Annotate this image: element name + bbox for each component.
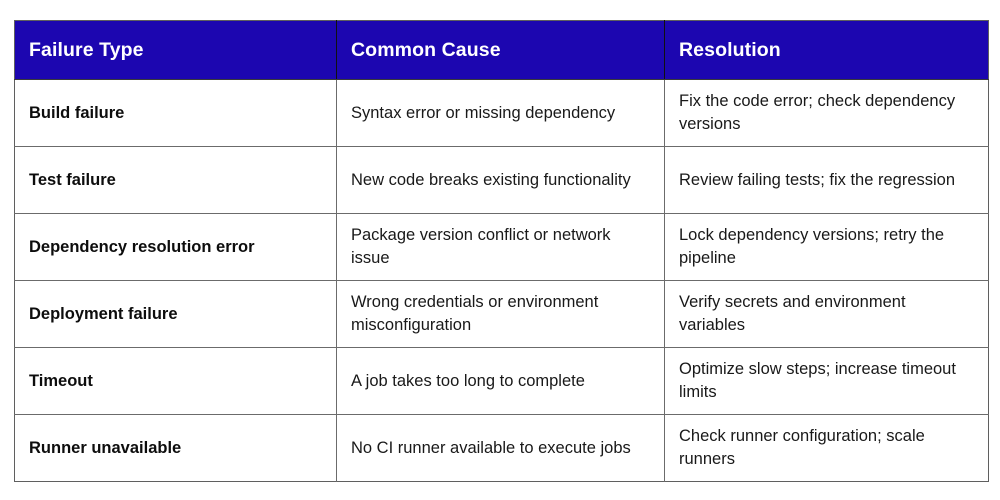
cell-resolution: Verify secrets and environment variables (665, 281, 989, 348)
cell-common-cause: Wrong credentials or environment misconf… (337, 281, 665, 348)
cell-failure-type: Build failure (15, 80, 337, 147)
table-row: Build failure Syntax error or missing de… (15, 80, 989, 147)
table-header: Failure Type Common Cause Resolution (15, 21, 989, 80)
table-row: Deployment failure Wrong credentials or … (15, 281, 989, 348)
table-row: Dependency resolution error Package vers… (15, 214, 989, 281)
column-header-failure-type: Failure Type (15, 21, 337, 80)
table-row: Test failure New code breaks existing fu… (15, 147, 989, 214)
failure-reference-table-container: Failure Type Common Cause Resolution Bui… (14, 20, 988, 490)
table-row: Runner unavailable No CI runner availabl… (15, 415, 989, 482)
cell-failure-type: Dependency resolution error (15, 214, 337, 281)
cell-resolution: Optimize slow steps; increase timeout li… (665, 348, 989, 415)
cell-failure-type: Test failure (15, 147, 337, 214)
table-body: Build failure Syntax error or missing de… (15, 80, 989, 482)
cell-common-cause: Syntax error or missing dependency (337, 80, 665, 147)
table-row: Timeout A job takes too long to complete… (15, 348, 989, 415)
table-header-row: Failure Type Common Cause Resolution (15, 21, 989, 80)
cell-common-cause: Package version conflict or network issu… (337, 214, 665, 281)
cell-resolution: Lock dependency versions; retry the pipe… (665, 214, 989, 281)
cell-resolution: Fix the code error; check dependency ver… (665, 80, 989, 147)
cell-common-cause: No CI runner available to execute jobs (337, 415, 665, 482)
failure-reference-table: Failure Type Common Cause Resolution Bui… (14, 20, 989, 482)
cell-common-cause: New code breaks existing functionality (337, 147, 665, 214)
cell-failure-type: Runner unavailable (15, 415, 337, 482)
column-header-resolution: Resolution (665, 21, 989, 80)
cell-common-cause: A job takes too long to complete (337, 348, 665, 415)
cell-failure-type: Timeout (15, 348, 337, 415)
cell-resolution: Check runner configuration; scale runner… (665, 415, 989, 482)
cell-failure-type: Deployment failure (15, 281, 337, 348)
column-header-common-cause: Common Cause (337, 21, 665, 80)
cell-resolution: Review failing tests; fix the regression (665, 147, 989, 214)
